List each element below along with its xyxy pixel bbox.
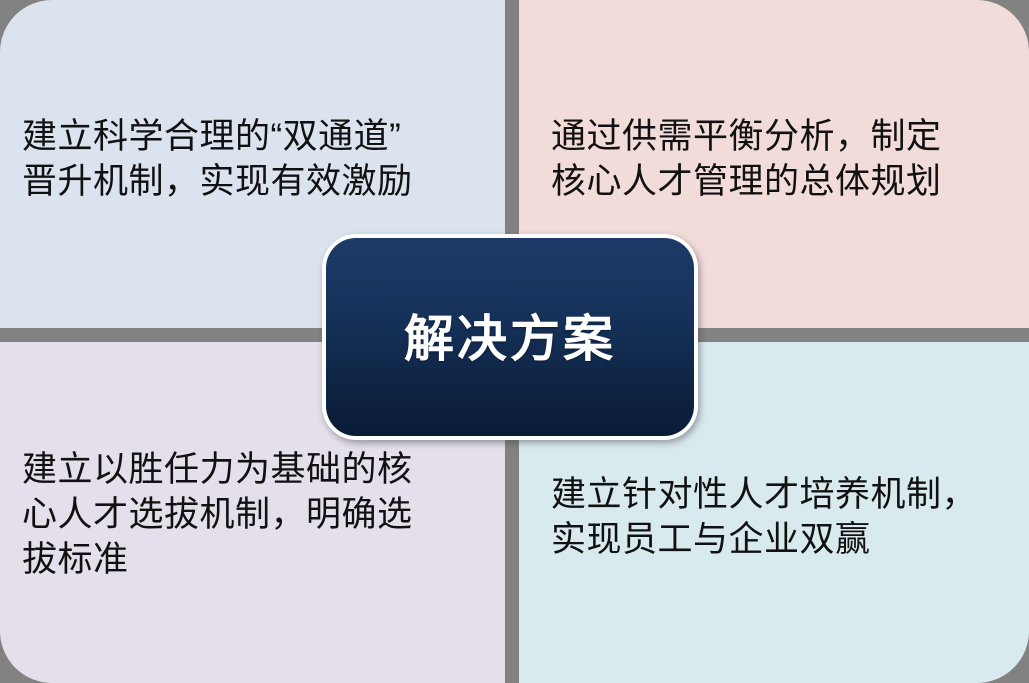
center-badge-inner: 解决方案 [326, 238, 694, 436]
quadrant-top-left-text: 建立科学合理的“双通道” 晋升机制，实现有效激励 [22, 115, 413, 205]
quadrant-top-right-text: 通过供需平衡分析，制定 核心人才管理的总体规划 [551, 115, 942, 205]
center-badge[interactable]: 解决方案 [322, 234, 698, 440]
quadrant-bottom-left-text: 建立以胜任力为基础的核 心人才选拔机制，明确选 拔标准 [22, 448, 413, 582]
quadrant-bottom-right-text: 建立针对性人才培养机制， 实现员工与企业双赢 [551, 473, 977, 563]
center-badge-label: 解决方案 [404, 299, 616, 371]
diagram-canvas: 建立科学合理的“双通道” 晋升机制，实现有效激励 通过供需平衡分析，制定 核心人… [0, 0, 1029, 683]
